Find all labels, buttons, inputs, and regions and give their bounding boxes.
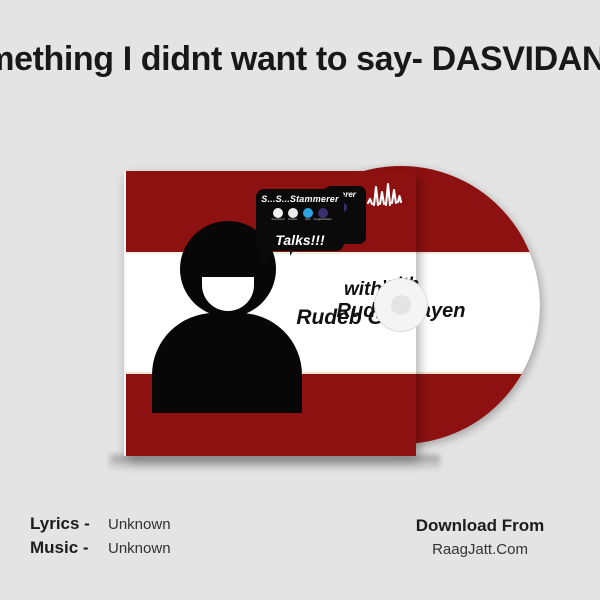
soundcloud-icon-label: Soundcloud [271, 219, 284, 221]
lyrics-value: Unknown [108, 516, 171, 533]
lyrics-label: Lyrics - [30, 514, 108, 534]
page-title: Something I didnt want to say- DASVIDANI… [0, 42, 600, 76]
google-podcasts-icon: GooglePodcasts [318, 208, 328, 222]
soundcloud-icon: Soundcloud [273, 208, 283, 222]
podcast-icon: Podcast [288, 208, 298, 222]
speech-bubble-tail [262, 249, 272, 267]
artwork-stage: S...S...Stammerer Talks!!! with Rudeb Ga… [0, 118, 600, 508]
album-cover-shadow [110, 455, 440, 471]
music-label: Music - [30, 538, 108, 558]
soundwave-icon [366, 181, 402, 213]
podcast-name-label: S...S...Stammerer [256, 194, 344, 204]
person-smile-icon [202, 277, 254, 311]
download-from-label: Download From [390, 514, 570, 538]
credits-block: Lyrics - Unknown Music - Unknown [30, 514, 171, 562]
podcast-icon-label: Podcast [288, 219, 297, 221]
title-bar: Something I didnt want to say- DASVIDANI… [0, 0, 600, 118]
download-block: Download From RaagJatt.Com [390, 514, 570, 562]
credit-row-music: Music - Unknown [30, 538, 171, 562]
podcast-tagline-label: Talks!!! [256, 232, 344, 248]
spotify-icon: Spot [303, 208, 313, 222]
music-value: Unknown [108, 540, 171, 557]
platform-icons-row: Soundcloud Podcast Spot GooglePodcasts [256, 208, 344, 222]
download-site-label[interactable]: RaagJatt.Com [390, 538, 570, 562]
credit-row-lyrics: Lyrics - Unknown [30, 514, 171, 538]
google-podcasts-icon-label: GooglePodcasts [313, 219, 331, 221]
footer: Lyrics - Unknown Music - Unknown Downloa… [0, 508, 600, 600]
spotify-icon-label: Spot [305, 219, 310, 221]
speech-bubble: S...S...Stammerer Soundcloud Podcast Spo… [256, 189, 344, 251]
cd-center-hole-inner [391, 295, 411, 315]
